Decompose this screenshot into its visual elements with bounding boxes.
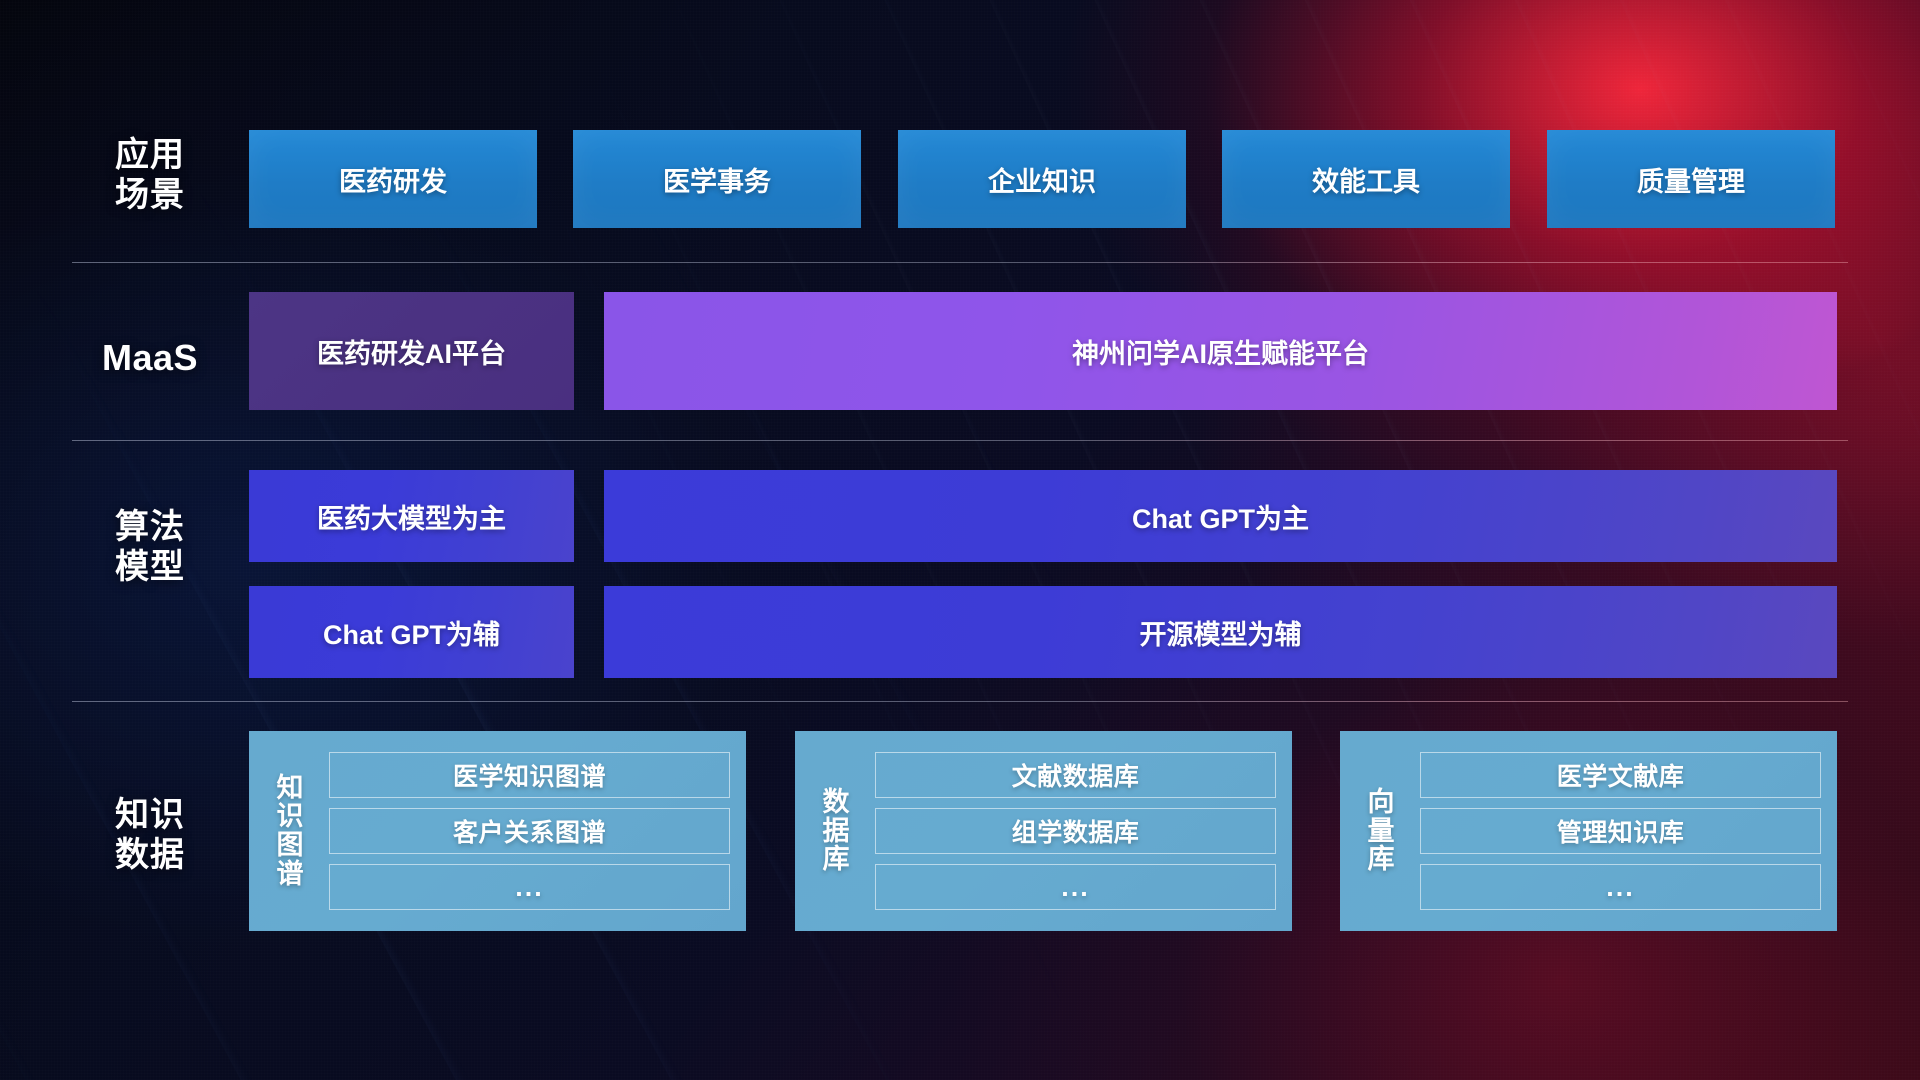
- knowledge-item-more[interactable]: ...: [875, 864, 1276, 910]
- card-algo-chatgpt-secondary[interactable]: Chat GPT为辅: [249, 586, 574, 678]
- knowledge-panel-vector-store[interactable]: 向 量 库 医学文献库 管理知识库 ...: [1340, 731, 1837, 931]
- item-label: 组学数据库: [1012, 813, 1140, 849]
- card-label: 医药研发: [339, 160, 447, 199]
- card-label: 神州问学AI原生赋能平台: [1072, 332, 1369, 371]
- card-label: Chat GPT为辅: [323, 613, 500, 652]
- divider-after-application-scenarios: [72, 262, 1848, 263]
- title-char: 图: [259, 831, 321, 860]
- card-label: 企业知识: [988, 160, 1096, 199]
- knowledge-item-medical-knowledge-graph[interactable]: 医学知识图谱: [329, 752, 730, 798]
- row-label-line-1: 知识: [60, 795, 240, 835]
- title-char: 量: [1350, 817, 1412, 846]
- row-label-application-scenarios: 应用 场景: [60, 135, 240, 215]
- title-char: 数: [805, 788, 867, 817]
- card-application-medical-affairs[interactable]: 医学事务: [573, 130, 861, 228]
- row-label-maas: MaaS: [60, 337, 240, 379]
- card-maas-shenzhou-wenxue-platform[interactable]: 神州问学AI原生赋能平台: [604, 292, 1837, 410]
- card-algo-chatgpt-primary[interactable]: Chat GPT为主: [604, 470, 1837, 562]
- knowledge-panel-items: 文献数据库 组学数据库 ...: [867, 752, 1280, 910]
- card-application-enterprise-knowledge[interactable]: 企业知识: [898, 130, 1186, 228]
- row-label-line-2: 场景: [60, 175, 240, 215]
- card-application-quality-management[interactable]: 质量管理: [1547, 130, 1835, 228]
- knowledge-panel-items: 医学文献库 管理知识库 ...: [1412, 752, 1825, 910]
- knowledge-panel-database[interactable]: 数 据 库 文献数据库 组学数据库 ...: [795, 731, 1292, 931]
- item-label: 文献数据库: [1012, 757, 1140, 793]
- item-label: ...: [515, 872, 544, 903]
- row-label-knowledge-data: 知识 数据: [60, 795, 240, 875]
- title-char: 向: [1350, 788, 1412, 817]
- row-label-line-1: MaaS: [60, 337, 240, 379]
- row-label-line-1: 算法: [60, 507, 240, 547]
- item-label: ...: [1061, 872, 1090, 903]
- card-label: 医药研发AI平台: [317, 332, 506, 371]
- card-label: 效能工具: [1312, 160, 1420, 199]
- knowledge-panel-title: 知 识 图 谱: [259, 774, 321, 888]
- knowledge-panel-title: 向 量 库: [1350, 788, 1412, 874]
- card-label: 开源模型为辅: [1140, 613, 1302, 652]
- item-label: 医学文献库: [1557, 757, 1685, 793]
- knowledge-item-customer-relation-graph[interactable]: 客户关系图谱: [329, 808, 730, 854]
- card-algo-pharma-large-model-primary[interactable]: 医药大模型为主: [249, 470, 574, 562]
- card-application-efficiency-tools[interactable]: 效能工具: [1222, 130, 1510, 228]
- item-label: 客户关系图谱: [453, 813, 606, 849]
- stack-rows: 应用 场景 医药研发 医学事务 企业知识 效能工具 质量管理 MaaS 医药研发…: [0, 0, 1920, 1080]
- title-char: 据: [805, 817, 867, 846]
- knowledge-panel-knowledge-graph[interactable]: 知 识 图 谱 医学知识图谱 客户关系图谱 ...: [249, 731, 746, 931]
- title-char: 库: [1350, 845, 1412, 874]
- row-label-line-2: 模型: [60, 547, 240, 587]
- row-label-line-2: 数据: [60, 835, 240, 875]
- card-label: Chat GPT为主: [1132, 497, 1309, 536]
- item-label: 医学知识图谱: [453, 757, 606, 793]
- row-label-line-1: 应用: [60, 135, 240, 175]
- card-algo-open-source-secondary[interactable]: 开源模型为辅: [604, 586, 1837, 678]
- item-label: ...: [1606, 872, 1635, 903]
- divider-after-maas: [72, 440, 1848, 441]
- title-char: 识: [259, 802, 321, 831]
- knowledge-item-more[interactable]: ...: [1420, 864, 1821, 910]
- card-maas-pharma-ai-platform[interactable]: 医药研发AI平台: [249, 292, 574, 410]
- row-label-algorithm-models: 算法 模型: [60, 507, 240, 587]
- title-char: 库: [805, 845, 867, 874]
- card-label: 质量管理: [1637, 160, 1745, 199]
- card-label: 医学事务: [663, 160, 771, 199]
- card-label: 医药大模型为主: [317, 497, 506, 536]
- title-char: 谱: [259, 860, 321, 889]
- knowledge-panel-items: 医学知识图谱 客户关系图谱 ...: [321, 752, 734, 910]
- knowledge-item-omics-database[interactable]: 组学数据库: [875, 808, 1276, 854]
- card-application-medicine-rd[interactable]: 医药研发: [249, 130, 537, 228]
- knowledge-panel-title: 数 据 库: [805, 788, 867, 874]
- divider-after-algorithm-models: [72, 701, 1848, 702]
- knowledge-item-management-knowledge-store[interactable]: 管理知识库: [1420, 808, 1821, 854]
- item-label: 管理知识库: [1557, 813, 1685, 849]
- title-char: 知: [259, 774, 321, 803]
- knowledge-item-more[interactable]: ...: [329, 864, 730, 910]
- knowledge-item-medical-literature-store[interactable]: 医学文献库: [1420, 752, 1821, 798]
- knowledge-item-literature-database[interactable]: 文献数据库: [875, 752, 1276, 798]
- diagram-canvas: 应用 场景 医药研发 医学事务 企业知识 效能工具 质量管理 MaaS 医药研发…: [0, 0, 1920, 1080]
